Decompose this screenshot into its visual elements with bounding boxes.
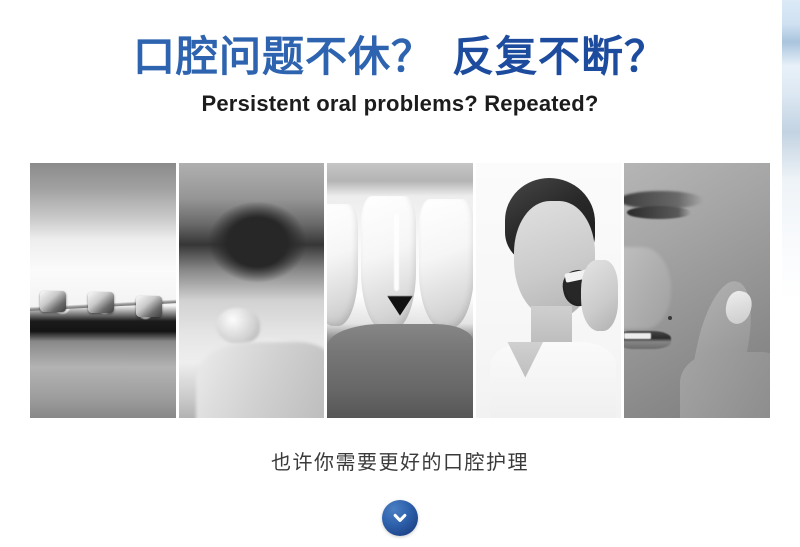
header-block: 口腔问题不休？反复不断？ Persistent oral problems? R… — [0, 33, 800, 117]
hand — [581, 260, 619, 331]
braces-bracket — [40, 291, 66, 312]
teeth — [624, 333, 650, 340]
lower-lip — [327, 324, 473, 418]
page-title: 口腔问题不休？反复不断？ — [0, 33, 800, 80]
tooth — [419, 199, 473, 329]
footer-caption: 也许你需要更好的口腔护理 — [0, 446, 800, 475]
photo-strip — [30, 163, 770, 418]
hand — [680, 352, 770, 418]
braces-bracket — [88, 292, 114, 313]
panel-woman-jaw — [476, 163, 622, 418]
panel-front-teeth — [327, 163, 473, 418]
headline-segment-primary: 口腔问题不休？ — [133, 33, 434, 80]
tooth — [327, 204, 358, 326]
tooth — [361, 196, 416, 331]
headline-segment-secondary: 反复不断？ — [452, 33, 667, 80]
panel-cheek-pain — [624, 163, 770, 418]
lower-lip — [196, 342, 324, 419]
mole — [668, 316, 672, 320]
closed-eye — [627, 206, 691, 219]
tooth-highlight — [394, 214, 399, 291]
braces-bracket — [136, 296, 162, 317]
shirt — [490, 342, 615, 419]
panel-tongue — [179, 163, 325, 418]
tongue-lesion — [216, 308, 260, 344]
page-subtitle: Persistent oral problems? Repeated? — [0, 91, 800, 117]
panel-braces — [30, 163, 176, 418]
chevron-down-icon — [390, 508, 410, 528]
scroll-down-button[interactable] — [382, 500, 418, 536]
nose — [624, 247, 671, 329]
